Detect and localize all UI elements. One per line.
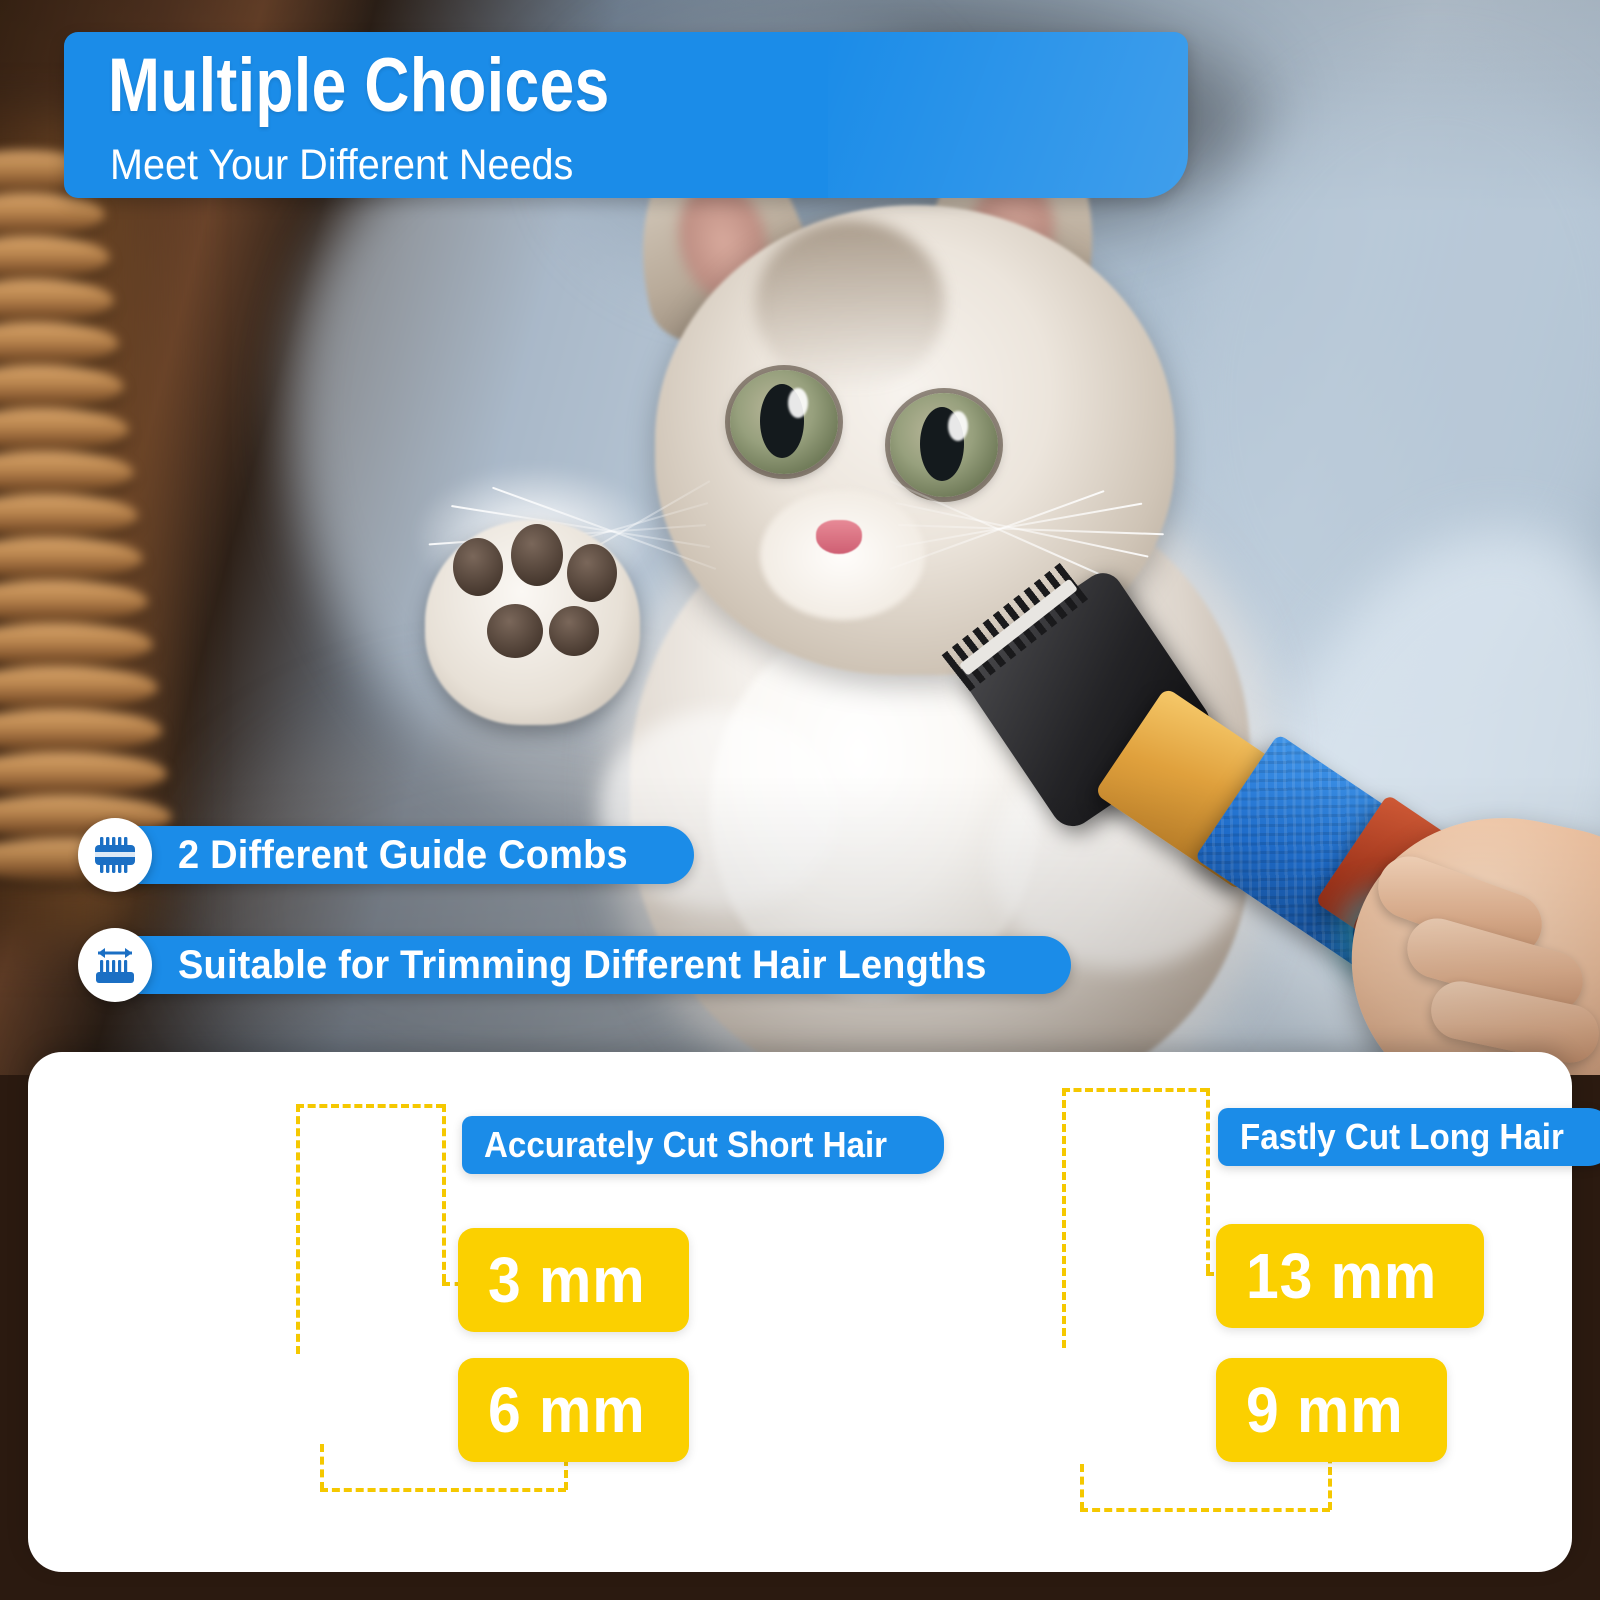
feature-label: 2 Different Guide Combs bbox=[178, 833, 628, 878]
feature-label: Suitable for Trimming Different Hair Len… bbox=[178, 943, 987, 988]
basket-ring bbox=[0, 408, 129, 452]
kitten-paw bbox=[415, 480, 660, 735]
feature-pill: Suitable for Trimming Different Hair Len… bbox=[132, 936, 1071, 994]
eye-glint bbox=[948, 411, 968, 441]
blade-edge bbox=[959, 579, 1078, 676]
clipper-blade-head bbox=[955, 565, 1220, 834]
page-subtitle: Meet Your Different Needs bbox=[110, 144, 573, 187]
blade-teeth bbox=[942, 563, 1089, 692]
paw-toe bbox=[567, 544, 617, 602]
power-button-icon bbox=[1353, 903, 1415, 965]
kitten-eye-left bbox=[730, 370, 838, 474]
size-badge-9mm: 9 mm bbox=[1216, 1358, 1447, 1462]
whisker bbox=[890, 490, 1105, 570]
feature-pill: 2 Different Guide Combs bbox=[132, 826, 694, 884]
blanket-fold bbox=[1121, 19, 1600, 721]
whisker bbox=[451, 505, 710, 548]
basket-ring bbox=[0, 666, 158, 710]
connector-dash bbox=[442, 1104, 446, 1282]
connector-dash bbox=[296, 1104, 300, 1354]
whisker bbox=[492, 487, 716, 570]
paw-toe bbox=[453, 538, 503, 596]
connector-dash bbox=[1206, 1088, 1210, 1272]
paw-pad bbox=[425, 520, 640, 725]
connector-dash bbox=[320, 1444, 324, 1490]
connector-dash bbox=[296, 1104, 444, 1108]
infographic-root: Multiple Choices Meet Your Different Nee… bbox=[0, 0, 1600, 1600]
basket-ring bbox=[0, 494, 138, 538]
wicker-basket bbox=[0, 150, 190, 890]
pupil bbox=[760, 384, 804, 458]
whisker bbox=[429, 524, 706, 545]
size-badge-3mm: 3 mm bbox=[458, 1228, 689, 1332]
basket-ring bbox=[0, 193, 105, 237]
comb-tag-long: Fastly Cut Long Hair bbox=[1218, 1108, 1600, 1166]
pupil bbox=[920, 407, 964, 481]
banner-sheen bbox=[828, 32, 1188, 198]
whisker bbox=[448, 502, 708, 578]
basket-ring bbox=[0, 451, 134, 495]
basket-ring bbox=[0, 279, 114, 323]
size-badge-13mm: 13 mm bbox=[1216, 1224, 1484, 1328]
kitten-forehead-stripes bbox=[755, 220, 945, 390]
basket-ring bbox=[0, 365, 124, 409]
header-banner: Multiple Choices Meet Your Different Nee… bbox=[64, 32, 1188, 198]
kitten-head bbox=[655, 205, 1175, 675]
comb-tag-short: Accurately Cut Short Hair bbox=[462, 1116, 944, 1174]
connector-dash bbox=[1062, 1088, 1208, 1092]
basket-backdrop bbox=[0, 120, 190, 940]
feature-row-hair-lengths: Suitable for Trimming Different Hair Len… bbox=[78, 928, 1071, 1002]
whisker bbox=[493, 480, 711, 607]
eye-glint bbox=[788, 388, 808, 418]
whisker bbox=[896, 503, 1143, 548]
basket-ring bbox=[0, 580, 148, 624]
comb-guard-icon bbox=[78, 818, 152, 892]
size-badge-6mm: 6 mm bbox=[458, 1358, 689, 1462]
spec-panel: 5.5cm/2.17in 4.7cm/1.85in Accurately Cut… bbox=[28, 1052, 1572, 1572]
basket-ring bbox=[0, 322, 119, 366]
kitten-eye-right bbox=[890, 393, 998, 497]
page-title: Multiple Choices bbox=[108, 48, 610, 124]
connector-dash bbox=[1062, 1088, 1066, 1348]
connector-dash bbox=[320, 1488, 566, 1492]
blanket-fold bbox=[1185, 475, 1600, 1075]
connector-dash bbox=[1080, 1464, 1084, 1510]
clipper-gold-barrel bbox=[1094, 687, 1311, 891]
kitten-muzzle bbox=[760, 490, 925, 620]
whisker bbox=[898, 524, 1164, 535]
paw-fur bbox=[415, 466, 655, 606]
clipper-red-handle bbox=[1315, 794, 1595, 1042]
basket-ring bbox=[0, 623, 153, 667]
whisker bbox=[896, 502, 1149, 558]
whisker bbox=[890, 480, 1110, 579]
feature-row-guide-combs: 2 Different Guide Combs bbox=[78, 818, 694, 892]
human-hand bbox=[1322, 789, 1600, 1075]
paw-toe bbox=[511, 524, 563, 586]
finger bbox=[1400, 911, 1590, 1018]
basket-ring bbox=[0, 537, 143, 581]
paw-toe bbox=[487, 604, 543, 658]
paw-toe bbox=[549, 606, 599, 656]
finger bbox=[1370, 848, 1551, 964]
comb-measure-icon bbox=[78, 928, 152, 1002]
basket-ring bbox=[0, 752, 167, 796]
clipper-blue-grip bbox=[1194, 734, 1456, 979]
basket-ring bbox=[0, 236, 110, 280]
basket-ring bbox=[0, 709, 162, 753]
connector-dash bbox=[1080, 1508, 1330, 1512]
kitten-nose bbox=[816, 520, 862, 554]
